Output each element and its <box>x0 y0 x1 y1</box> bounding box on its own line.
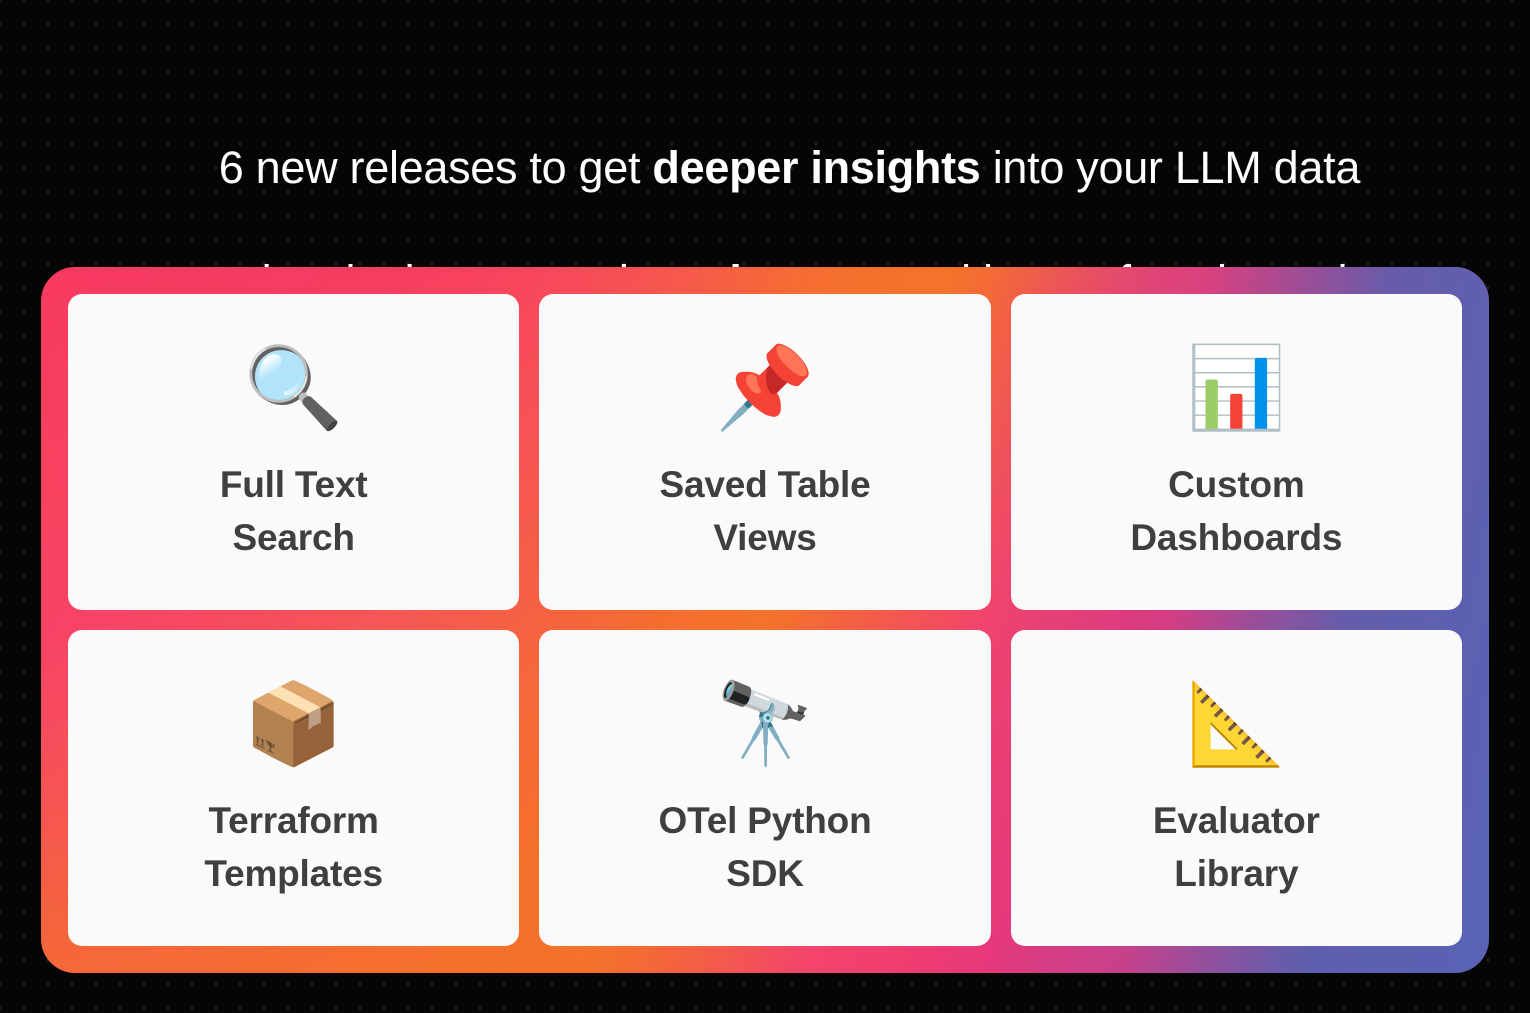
feature-card-label: Full Text Search <box>220 458 368 564</box>
feature-card-saved-table-views[interactable]: 📌 Saved Table Views <box>539 294 990 610</box>
bar-chart-icon: 📊 <box>1187 336 1287 440</box>
feature-card-custom-dashboards[interactable]: 📊 Custom Dashboards <box>1011 294 1462 610</box>
feature-card-label: Custom Dashboards <box>1130 458 1342 564</box>
feature-card-evaluator-library[interactable]: 📐 Evaluator Library <box>1011 630 1462 946</box>
feature-card-label: Terraform Templates <box>204 794 382 900</box>
headline-emphasis-1: deeper insights <box>652 142 980 193</box>
magnifying-glass-icon: 🔍 <box>244 336 344 440</box>
gradient-frame: 🔍 Full Text Search 📌 Saved Table Views 📊… <box>41 267 1489 973</box>
headline-text-1a: 6 new releases to get <box>219 142 653 193</box>
feature-card-otel-python-sdk[interactable]: 🔭 OTel Python SDK <box>539 630 990 946</box>
feature-card-grid: 🔍 Full Text Search 📌 Saved Table Views 📊… <box>68 294 1462 946</box>
feature-card-label: Saved Table Views <box>660 458 871 564</box>
headline-line-1: 6 new releases to get deeper insights in… <box>219 142 1360 193</box>
feature-card-terraform-templates[interactable]: 📦 Terraform Templates <box>68 630 519 946</box>
promo-graphic: 6 new releases to get deeper insights in… <box>0 0 1530 1013</box>
package-icon: 📦 <box>244 672 344 776</box>
pushpin-icon: 📌 <box>715 336 815 440</box>
triangular-ruler-icon: 📐 <box>1187 672 1287 776</box>
feature-card-label: OTel Python SDK <box>659 794 872 900</box>
telescope-icon: 🔭 <box>715 672 815 776</box>
feature-card-full-text-search[interactable]: 🔍 Full Text Search <box>68 294 519 610</box>
headline-text-1b: into your LLM data <box>981 142 1361 193</box>
feature-card-label: Evaluator Library <box>1153 794 1320 900</box>
